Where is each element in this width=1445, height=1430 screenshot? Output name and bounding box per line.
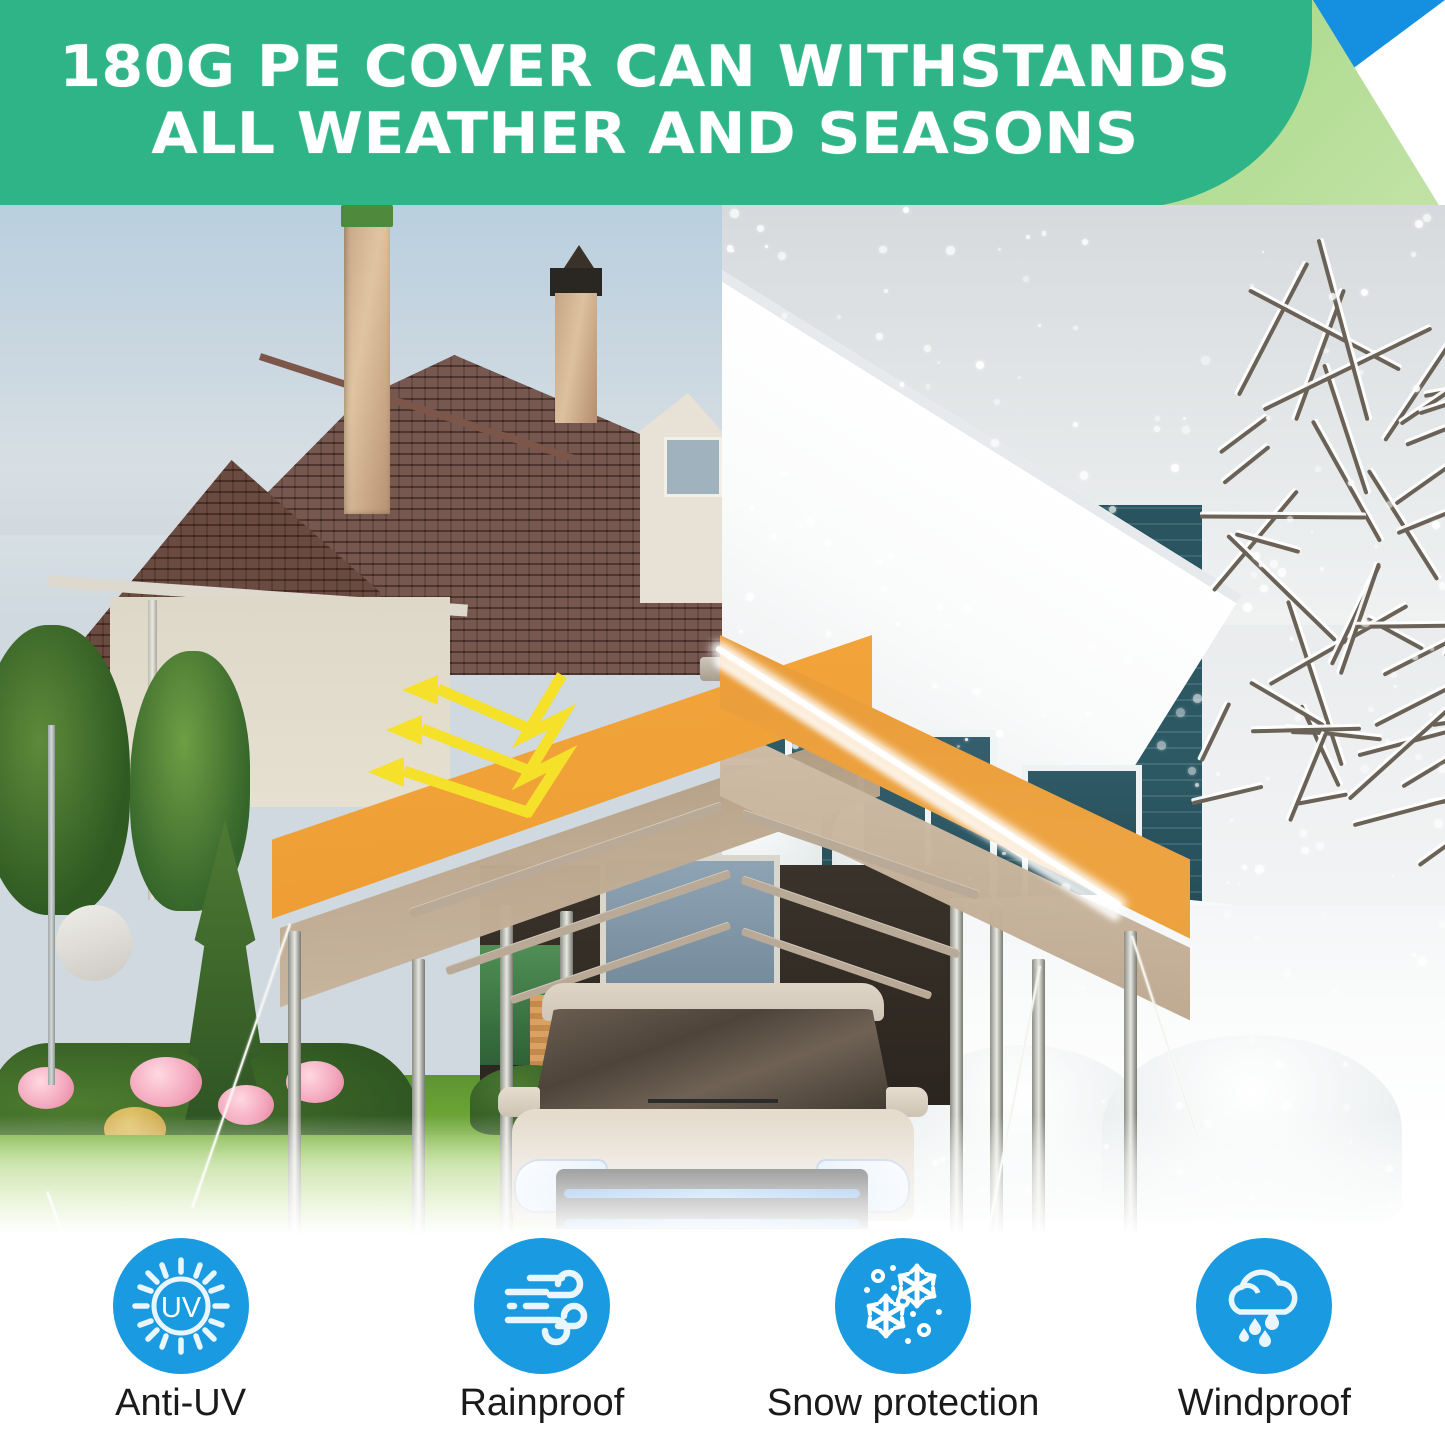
feature-anti-uv: UV Anti-UV (0, 1238, 361, 1425)
feature-label: Rainproof (459, 1382, 624, 1425)
feature-label: Snow protection (767, 1382, 1040, 1425)
feature-icon-badge: UV (113, 1238, 249, 1374)
hero-photo (0, 205, 1445, 1235)
car-wiper (648, 1099, 778, 1103)
product-feature-infographic: 180G PE COVER CAN WITHSTANDS ALL WEATHER… (0, 0, 1445, 1430)
feature-snow-protection: Snow protection (723, 1238, 1084, 1425)
carport-structure (0, 205, 1445, 1235)
uv-arrows-svg (330, 665, 610, 845)
feature-icon-badge (1196, 1238, 1332, 1374)
feature-icon-badge (835, 1238, 971, 1374)
uv-reflection-arrows (330, 665, 610, 845)
title-line-2: ALL WEATHER AND SEASONS (0, 101, 1322, 168)
feature-icon-row: UV Anti-UV (0, 1238, 1445, 1430)
svg-text:UV: UV (160, 1292, 201, 1324)
page-title: 180G PE COVER CAN WITHSTANDS ALL WEATHER… (0, 34, 1322, 169)
feature-icon-badge (474, 1238, 610, 1374)
photo-bottom-fade (0, 1115, 1445, 1235)
sun-uv-icon: UV (129, 1254, 233, 1358)
wind-icon (490, 1254, 594, 1358)
title-line-1: 180G PE COVER CAN WITHSTANDS (59, 34, 1230, 100)
snowflake-icon (851, 1254, 955, 1358)
feature-windproof: Windproof (1084, 1238, 1445, 1425)
header-banner: 180G PE COVER CAN WITHSTANDS ALL WEATHER… (0, 0, 1445, 215)
feature-rainproof: Rainproof (361, 1238, 722, 1425)
rain-cloud-icon (1212, 1254, 1316, 1358)
feature-label: Windproof (1178, 1382, 1351, 1425)
feature-label: Anti-UV (115, 1382, 246, 1425)
